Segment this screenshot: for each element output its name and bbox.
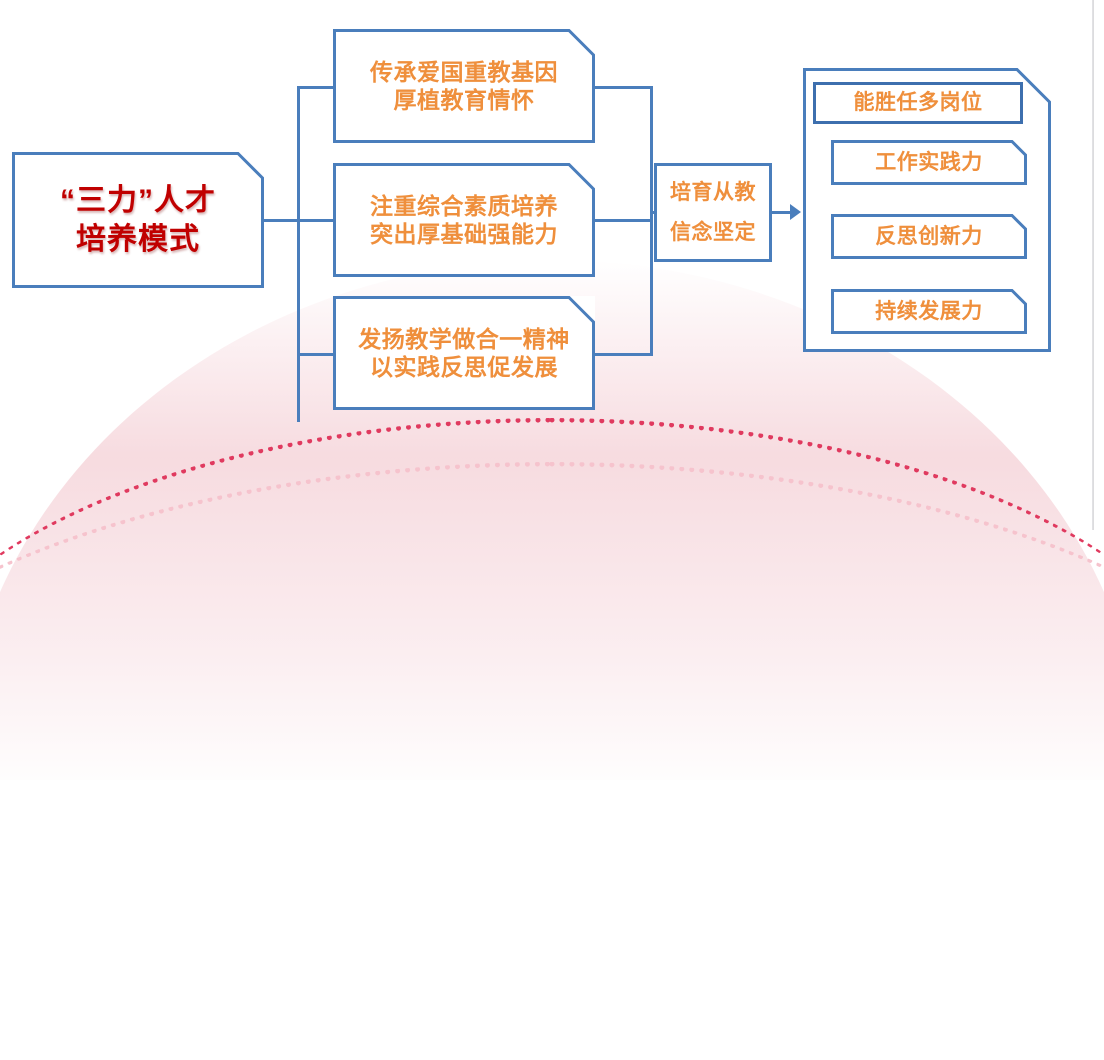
node-outcome-1[interactable]: 能胜任多岗位 (813, 82, 1023, 124)
node-middle-1-line-1: 传承爱国重教基因 (370, 58, 558, 86)
diagram-canvas: “三力”人才 培养模式 传承爱国重教基因 厚植教育情怀 注重综合素质培养 突出厚… (0, 0, 1104, 530)
node-outcome-4[interactable]: 持续发展力 (831, 289, 1027, 334)
connector-left-spine (297, 86, 300, 422)
node-talent-model-title[interactable]: “三力”人才 培养模式 (12, 152, 264, 288)
node-middle-3-line-1: 发扬教学做合一精神 (358, 325, 570, 353)
connector-spine-to-middle-3 (297, 353, 336, 356)
node-outcome-2-label: 工作实践力 (875, 150, 983, 176)
node-outcome-2[interactable]: 工作实践力 (831, 140, 1027, 185)
node-bridge-line-1: 培育从教 (670, 173, 756, 213)
node-outcome-1-label: 能胜任多岗位 (854, 90, 983, 116)
node-middle-2-line-2: 突出厚基础强能力 (370, 220, 558, 248)
connector-spine-to-middle-1 (297, 86, 336, 89)
arrow-head-icon (790, 204, 801, 220)
node-title-line-1: “三力”人才 (60, 181, 216, 220)
connector-middle-1-to-spine (595, 86, 653, 89)
connector-right-spine (650, 86, 653, 356)
node-middle-1[interactable]: 传承爱国重教基因 厚植教育情怀 (333, 29, 595, 143)
node-title-line-2: 培养模式 (76, 220, 200, 259)
node-bridge-belief[interactable]: 培育从教 信念坚定 (654, 163, 772, 262)
page-right-edge-line (1092, 0, 1094, 530)
node-bridge-line-2: 信念坚定 (670, 213, 756, 253)
node-middle-3[interactable]: 发扬教学做合一精神 以实践反思促发展 (333, 296, 595, 410)
node-outcome-3-label: 反思创新力 (875, 224, 983, 250)
node-outcome-4-label: 持续发展力 (875, 299, 983, 325)
connector-middle-2-to-spine (595, 219, 653, 222)
node-middle-2[interactable]: 注重综合素质培养 突出厚基础强能力 (333, 163, 595, 277)
connector-spine-to-middle-2 (297, 219, 336, 222)
decorative-dotted-arc-outer (0, 418, 1104, 1043)
connector-root-to-spine (264, 219, 300, 222)
node-outcome-3[interactable]: 反思创新力 (831, 214, 1027, 259)
connector-middle-3-to-spine (595, 353, 653, 356)
node-middle-1-line-2: 厚植教育情怀 (394, 86, 535, 114)
node-middle-2-line-1: 注重综合素质培养 (370, 192, 558, 220)
decorative-dotted-arc-inner (0, 462, 1104, 1060)
node-middle-3-line-2: 以实践反思促发展 (370, 353, 558, 381)
